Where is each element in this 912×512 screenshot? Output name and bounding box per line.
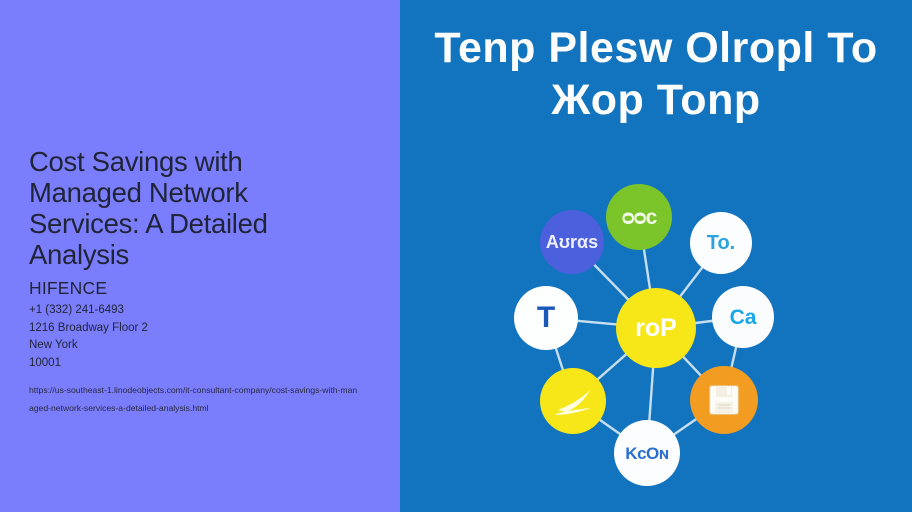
diagram-node-t[interactable]: T (514, 286, 578, 350)
hero-heading-line-2: Жop Tonp (400, 74, 912, 126)
diagram-node-kcon-label: KᴄOɴ (625, 445, 668, 462)
company-city: New York (29, 337, 374, 355)
company-street-address: 1216 Broadway Floor 2 (29, 320, 374, 338)
right-hero-panel: Tenp Plesw Olropl To Жop Tonp (400, 0, 912, 512)
diagram-node-ca[interactable]: Ca (712, 286, 774, 348)
diagram-node-ca-label: Ca (730, 307, 757, 328)
diagram-node-kcon[interactable]: KᴄOɴ (614, 420, 680, 486)
company-phone: +1 (332) 241-6493 (29, 302, 374, 320)
company-zip: 10001 (29, 355, 374, 373)
diagram-node-to-label: To. (707, 233, 736, 253)
diagram-node-green-label: ᴑᴑᴄ (622, 207, 657, 228)
diagram-node-t-label: T (537, 303, 555, 333)
screenshot-canvas: Cost Savings with Managed Network Servic… (0, 0, 912, 512)
paper-plane-icon (550, 384, 596, 418)
company-name: HIFENCE (29, 277, 374, 299)
floppy-disk-icon (704, 381, 744, 419)
left-info-panel: Cost Savings with Managed Network Servic… (0, 0, 400, 512)
article-url[interactable]: https://us-southeast-1.linodeobjects.com… (29, 381, 361, 417)
diagram-node-to[interactable]: To. (690, 212, 752, 274)
diagram-node-green[interactable]: ᴑᴑᴄ (606, 184, 672, 250)
hub-and-spoke-diagram: Aʊrαs ᴑᴑᴄ To. Ca T (504, 168, 808, 498)
diagram-node-orange[interactable] (690, 366, 758, 434)
diagram-node-plane[interactable] (540, 368, 606, 434)
diagram-node-aura-label: Aʊrαs (546, 233, 598, 251)
article-info-block: Cost Savings with Managed Network Servic… (29, 146, 374, 417)
diagram-node-aura[interactable]: Aʊrαs (540, 210, 604, 274)
diagram-hub-label: roP (635, 316, 677, 341)
page-title: Cost Savings with Managed Network Servic… (29, 146, 339, 270)
diagram-hub-node[interactable]: roP (616, 288, 696, 368)
hero-heading-line-1: Tenp Plesw Olropl To (400, 22, 912, 74)
hero-heading: Tenp Plesw Olropl To Жop Tonp (400, 22, 912, 126)
